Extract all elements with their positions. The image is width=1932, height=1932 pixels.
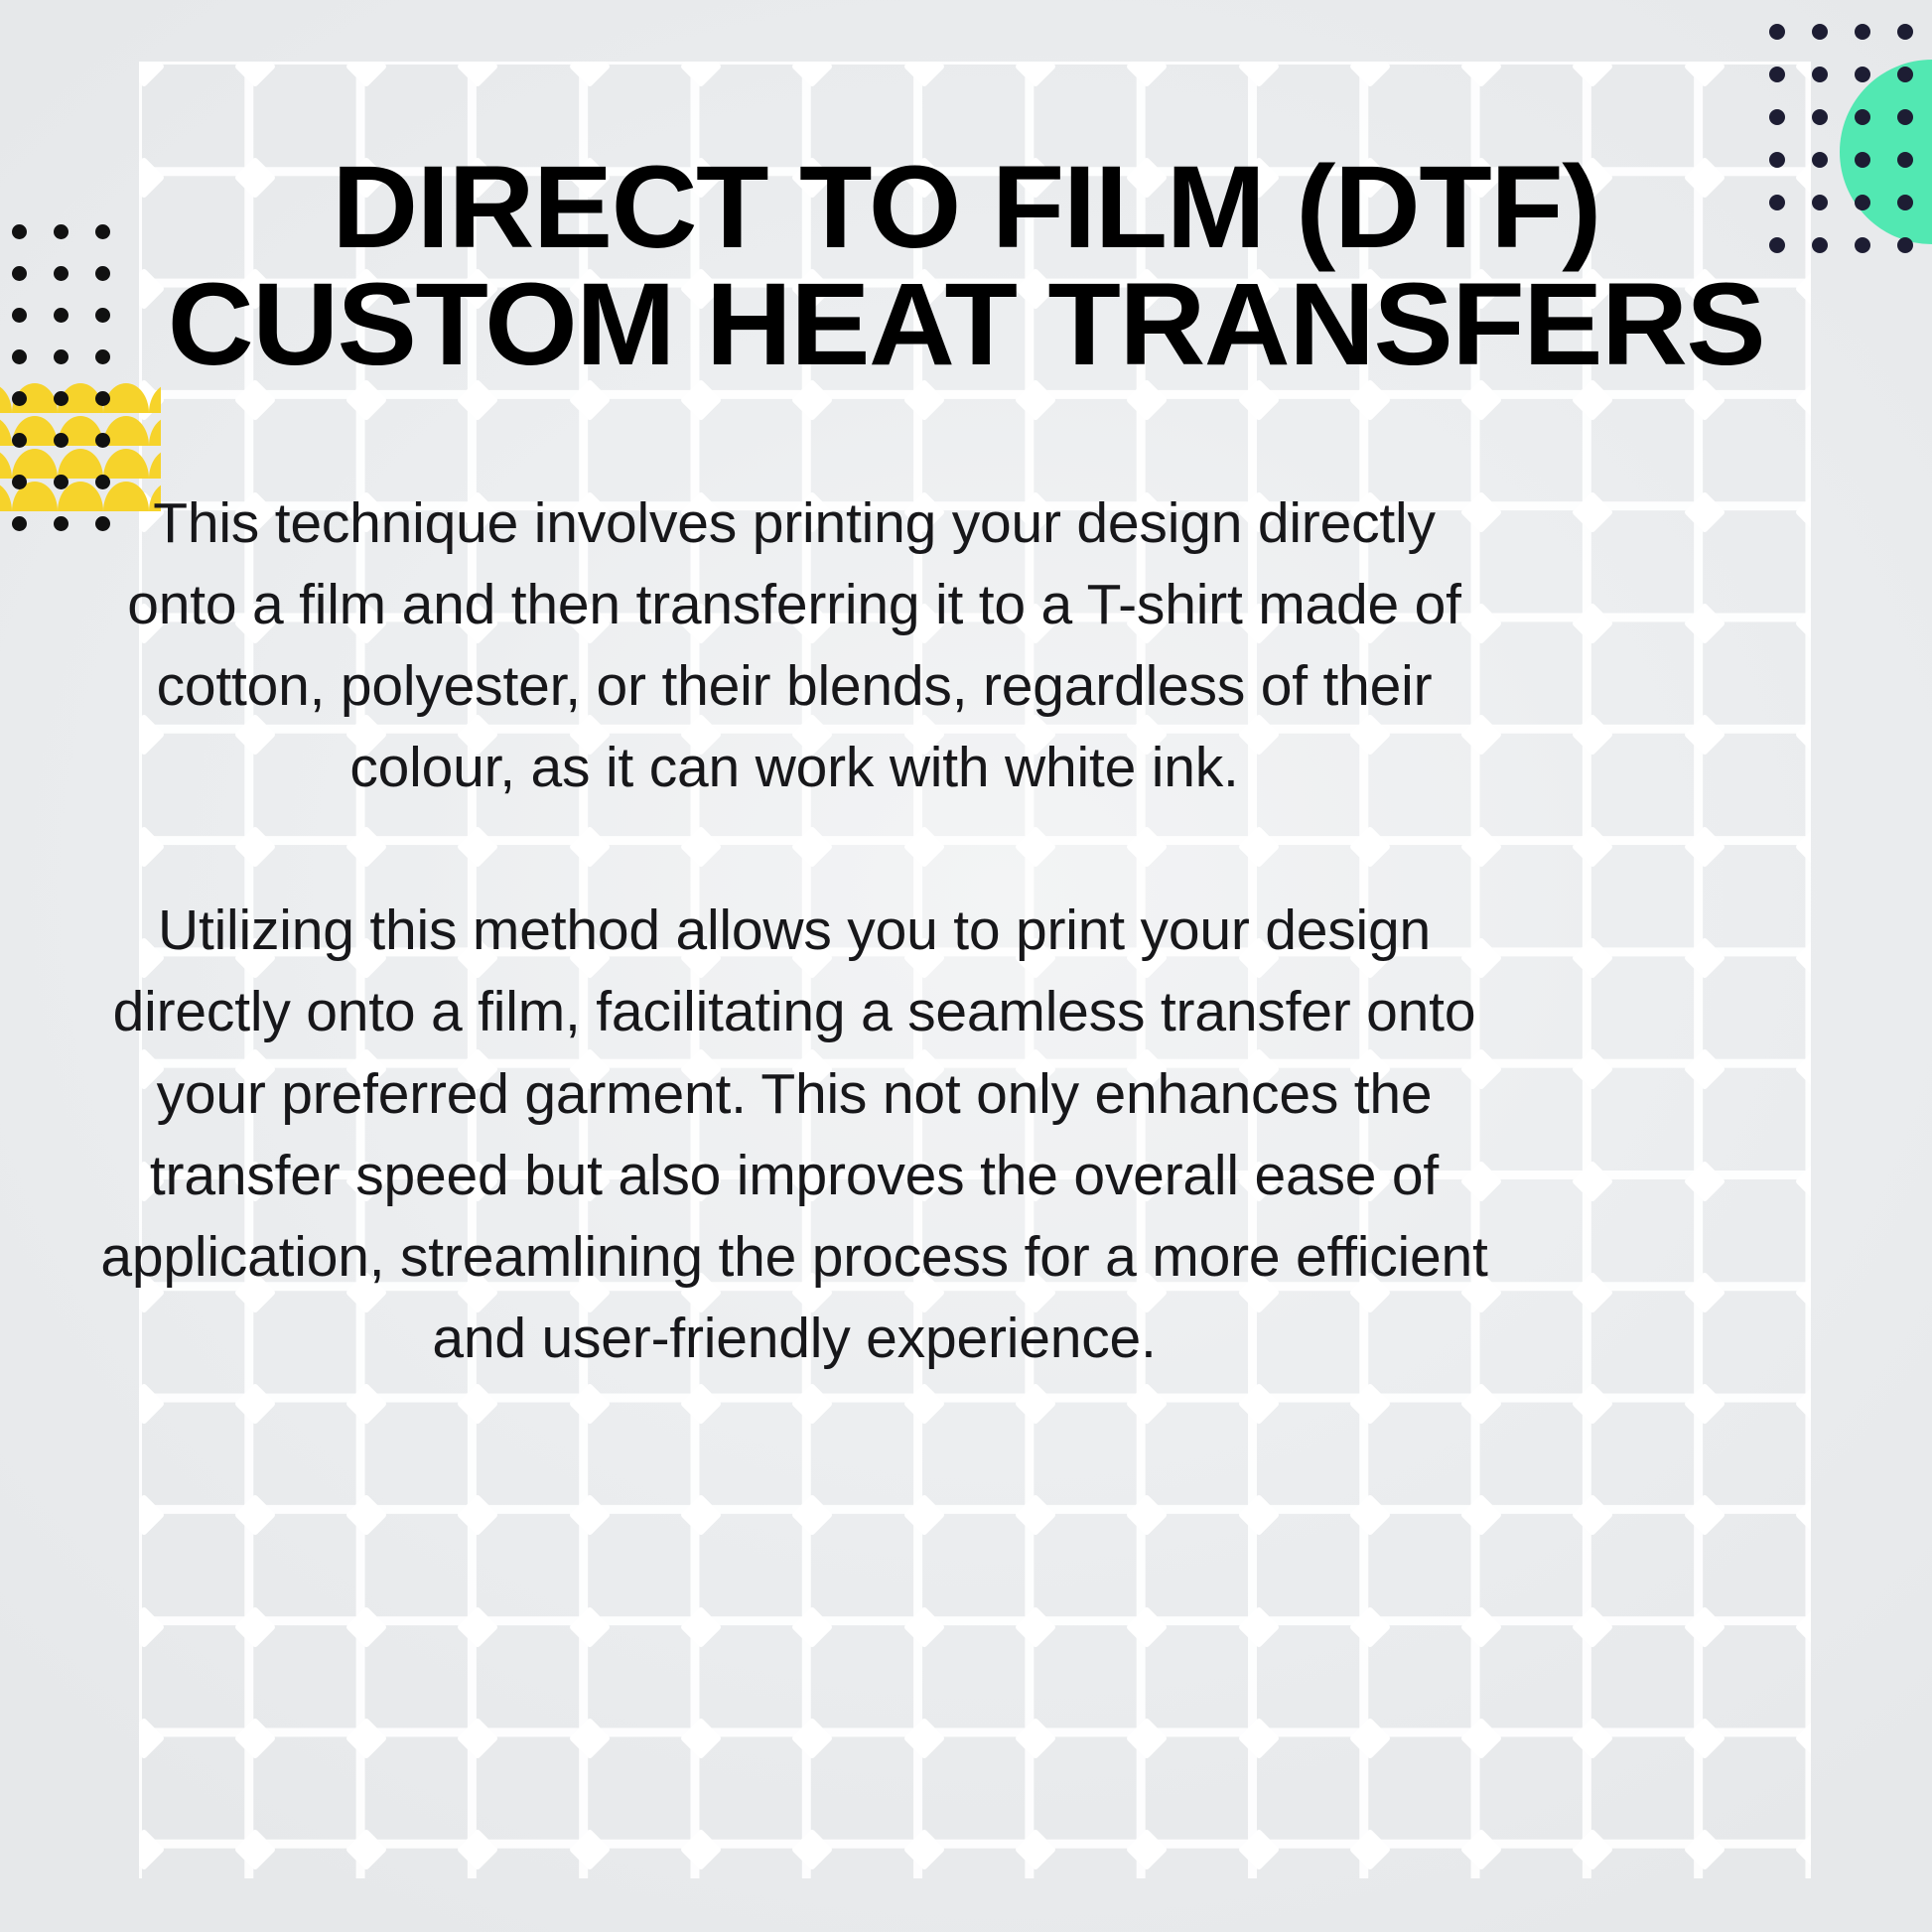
page-title: DIRECT TO FILM (DTF) CUSTOM HEAT TRANSFE… bbox=[143, 149, 1790, 383]
body-paragraph-2: Utilizing this method allows you to prin… bbox=[99, 890, 1489, 1378]
title-line-1: DIRECT TO FILM (DTF) bbox=[143, 149, 1790, 266]
poster-content: DIRECT TO FILM (DTF) CUSTOM HEAT TRANSFE… bbox=[0, 0, 1932, 1932]
body-paragraph-1: This technique involves printing your de… bbox=[99, 483, 1489, 808]
title-line-2: CUSTOM HEAT TRANSFERS bbox=[143, 266, 1790, 383]
body-copy: This technique involves printing your de… bbox=[99, 483, 1489, 1379]
poster-canvas: DIRECT TO FILM (DTF) CUSTOM HEAT TRANSFE… bbox=[0, 0, 1932, 1932]
